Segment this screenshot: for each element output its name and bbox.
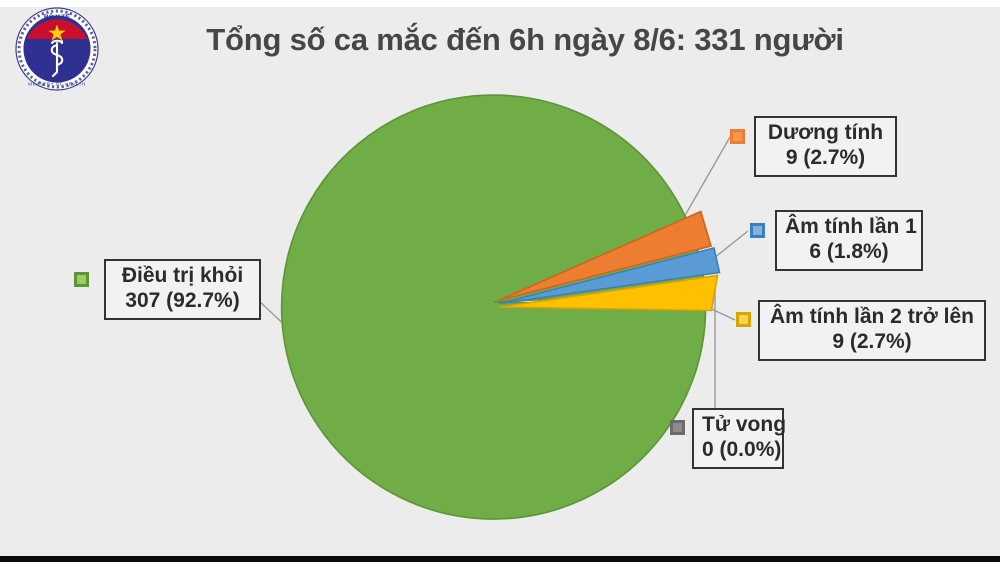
- data-label-negative1-name: Âm tính lần 1: [785, 215, 913, 240]
- data-label-recovered[interactable]: Điều trị khỏi 307 (92.7%): [104, 259, 261, 320]
- data-label-positive[interactable]: Dương tính 9 (2.7%): [754, 116, 897, 177]
- swatch-negative2: [736, 312, 751, 327]
- data-label-positive-name: Dương tính: [764, 121, 887, 146]
- data-label-negative2-name: Âm tính lần 2 trở lên: [768, 305, 976, 330]
- data-label-death-value: 0 (0.0%): [702, 438, 774, 463]
- leader-line-positive: [683, 137, 730, 219]
- data-label-recovered-name: Điều trị khỏi: [114, 264, 251, 289]
- data-label-death-name: Tử vong: [702, 413, 774, 438]
- data-label-negative2[interactable]: Âm tính lần 2 trở lên 9 (2.7%): [758, 300, 986, 361]
- data-label-negative1[interactable]: Âm tính lần 1 6 (1.8%): [775, 210, 923, 271]
- slide-canvas: BỘ Y TẾ MINISTRY OF HEALTH Tổng số ca mắ…: [0, 0, 1000, 562]
- bottom-dark-band: [0, 556, 1000, 562]
- swatch-recovered: [74, 272, 89, 287]
- swatch-death: [670, 420, 685, 435]
- data-label-recovered-value: 307 (92.7%): [114, 289, 251, 314]
- data-label-positive-value: 9 (2.7%): [764, 146, 887, 171]
- data-label-negative1-value: 6 (1.8%): [785, 240, 913, 265]
- data-label-negative2-value: 9 (2.7%): [768, 330, 976, 355]
- swatch-positive: [730, 129, 745, 144]
- swatch-negative1: [750, 223, 765, 238]
- data-label-death[interactable]: Tử vong 0 (0.0%): [692, 408, 784, 469]
